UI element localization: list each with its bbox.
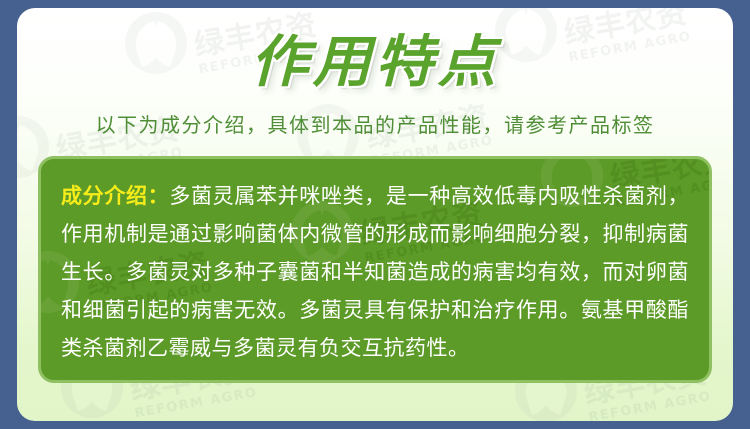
outer-frame: 绿丰农资 REFORM AGRO 绿丰农资 REFORM AGRO 绿丰农资 R…	[0, 0, 750, 429]
page-title-container: 作用特点	[17, 32, 733, 94]
ingredient-info-body: 成分介绍：多菌灵属苯并咪唑类，是一种高效低毒内吸性杀菌剂，作用机制是通过影响菌体…	[41, 159, 709, 381]
page-title: 作用特点	[250, 32, 500, 94]
page-subtitle-container: 以下为成分介绍，具体到本品的产品性能，请参考产品标签	[17, 112, 733, 138]
content-panel: 绿丰农资 REFORM AGRO 绿丰农资 REFORM AGRO 绿丰农资 R…	[17, 8, 733, 421]
watermark-brand-en: REFORM AGRO	[588, 390, 713, 421]
ingredient-info-card: 绿丰农资 REFORM AGRO 绿丰农资 REFORM AGRO 绿丰农资	[38, 156, 712, 383]
ingredient-label: 成分介绍：	[61, 184, 169, 208]
watermark-brand-en: REFORM AGRO	[134, 386, 259, 420]
product-detail-screenshot: 绿丰农资 REFORM AGRO 绿丰农资 REFORM AGRO 绿丰农资 R…	[0, 0, 750, 429]
ingredient-text: 多菌灵属苯并咪唑类，是一种高效低毒内吸性杀菌剂，作用机制是通过影响菌体内微管的形…	[61, 184, 689, 360]
ingredient-description: 成分介绍：多菌灵属苯并咪唑类，是一种高效低毒内吸性杀菌剂，作用机制是通过影响菌体…	[61, 177, 689, 367]
page-subtitle: 以下为成分介绍，具体到本品的产品性能，请参考产品标签	[96, 112, 655, 138]
